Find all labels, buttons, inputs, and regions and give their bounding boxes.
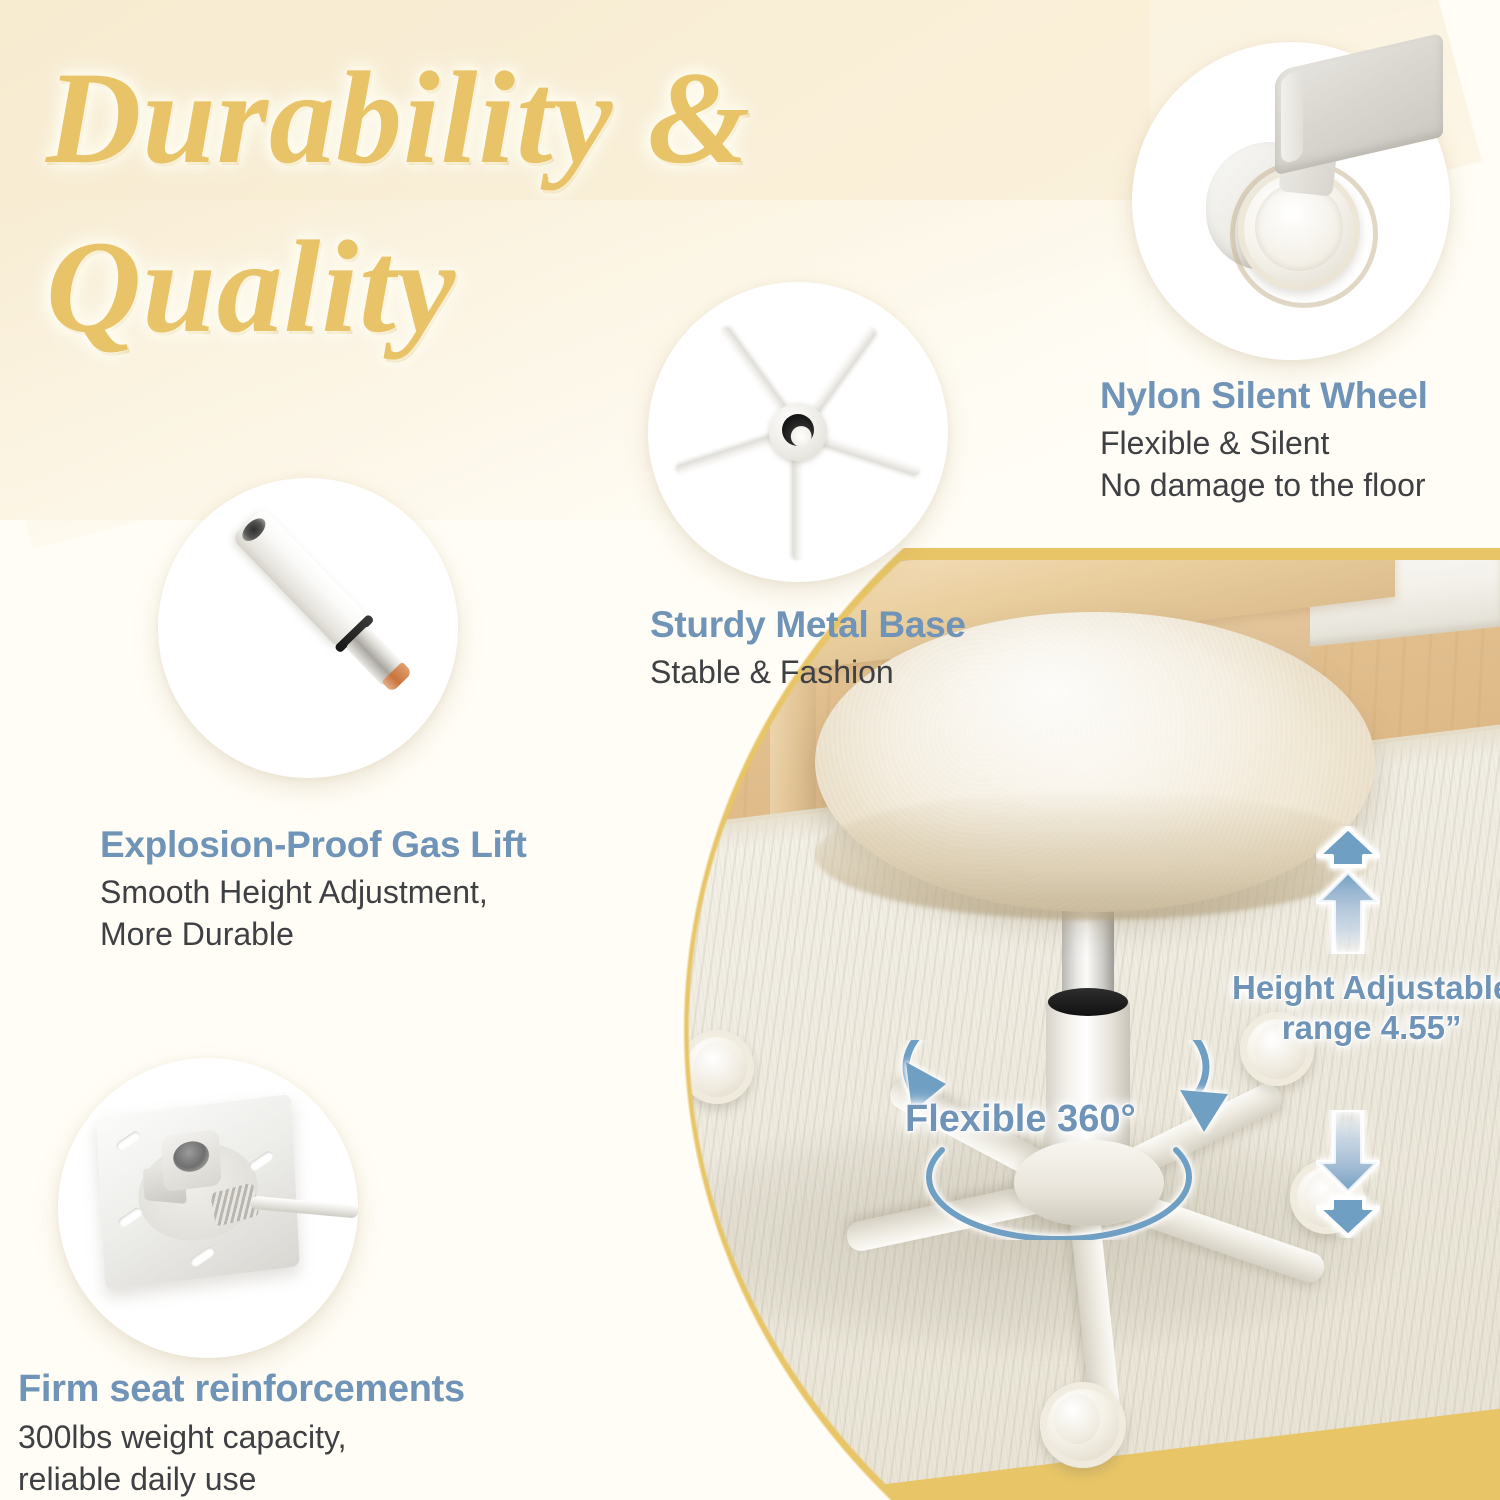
feature-line-1: 300lbs weight capacity,	[18, 1417, 465, 1459]
feature-line-2: No damage to the floor	[1100, 465, 1428, 507]
feature-line-1: Stable & Fashion	[650, 652, 966, 694]
feature-line-1: Flexible & Silent	[1100, 423, 1428, 465]
caster-3	[680, 1030, 754, 1104]
feature-line-2: More Durable	[100, 914, 527, 956]
feature-sturdy-metal-base: Sturdy Metal Base Stable & Fashion	[650, 604, 966, 694]
gas-lift-photo-clip	[158, 478, 458, 778]
gas-lift-assembly	[230, 503, 397, 673]
feature-heading: Nylon Silent Wheel	[1100, 375, 1428, 417]
five-star-base-photo	[648, 282, 948, 582]
caster-5	[1040, 1382, 1126, 1468]
seat-rim-shadow	[815, 790, 1375, 920]
gas-lift-cylinder-photo	[158, 478, 458, 778]
feature-heading: Sturdy Metal Base	[650, 604, 966, 646]
feature-heading: Explosion-Proof Gas Lift	[100, 824, 527, 866]
plate-height-lever	[249, 1196, 358, 1219]
piston-collar	[1048, 988, 1128, 1016]
page-title-line-1: Durability &	[46, 44, 751, 191]
caster-1	[620, 1154, 694, 1228]
feature-line-1: Smooth Height Adjustment,	[100, 872, 527, 914]
height-label-line-2: range 4.55”	[1232, 1008, 1500, 1048]
feature-explosion-proof-gas-lift: Explosion-Proof Gas Lift Smooth Height A…	[100, 824, 527, 955]
plate-slot-2	[248, 1149, 275, 1172]
seat-mounting-plate-photo	[58, 1058, 358, 1358]
base-hub	[769, 403, 827, 461]
feature-line-2: reliable daily use	[18, 1459, 465, 1500]
feature-firm-seat-reinforcements: Firm seat reinforcements 300lbs weight c…	[18, 1368, 465, 1500]
infographic-canvas: Durability & Quality	[0, 0, 1500, 1500]
height-adjustable-label: Height Adjustable range 4.55”	[1232, 968, 1500, 1049]
height-label-line-1: Height Adjustable	[1232, 968, 1500, 1008]
arrow-up-icon	[1316, 826, 1380, 954]
rotation-label: Flexible 360°	[905, 1096, 1136, 1142]
gas-lift-outer-tube	[231, 507, 368, 647]
seat-mounting-plate	[96, 1094, 300, 1290]
five-star-base-photo-clip	[648, 282, 948, 582]
feature-heading: Firm seat reinforcements	[18, 1368, 465, 1411]
plate-slot-1	[115, 1129, 142, 1152]
seat-plate-photo-clip	[58, 1058, 358, 1358]
plate-slot-3	[117, 1206, 144, 1229]
plate-slot-4	[189, 1245, 216, 1268]
feature-nylon-silent-wheel: Nylon Silent Wheel Flexible & Silent No …	[1100, 375, 1428, 506]
plate-center-hub	[161, 1129, 222, 1192]
arrow-down-icon	[1316, 1110, 1380, 1238]
caster-wheel-photo	[1132, 42, 1450, 360]
